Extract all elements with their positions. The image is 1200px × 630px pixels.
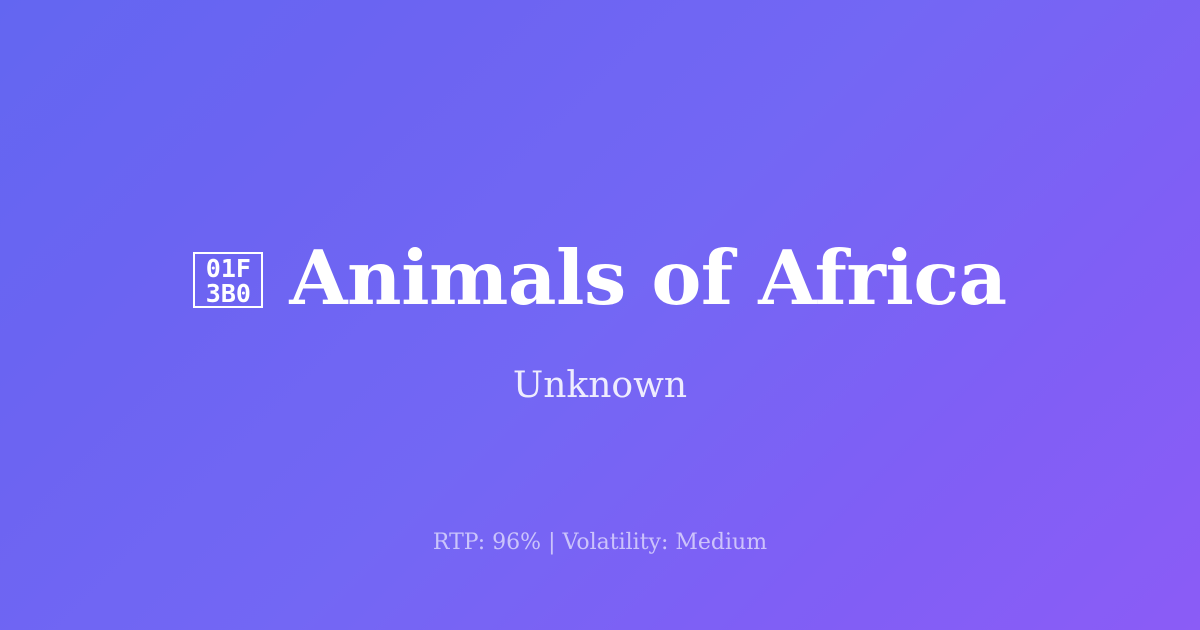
game-meta-line: RTP: 96% | Volatility: Medium [0, 528, 1200, 558]
page-title: Animals of Africa [289, 235, 1006, 321]
hero-title-row: 01F 3B0 Animals of Africa [0, 232, 1200, 324]
slot-machine-emoji-icon: 01F 3B0 [193, 252, 263, 308]
emoji-codepoint-top: 01F [206, 256, 251, 281]
game-provider-subtitle: Unknown [0, 362, 1200, 410]
og-share-card: 01F 3B0 Animals of Africa Unknown RTP: 9… [0, 0, 1200, 630]
emoji-codepoint-bottom: 3B0 [206, 281, 251, 306]
